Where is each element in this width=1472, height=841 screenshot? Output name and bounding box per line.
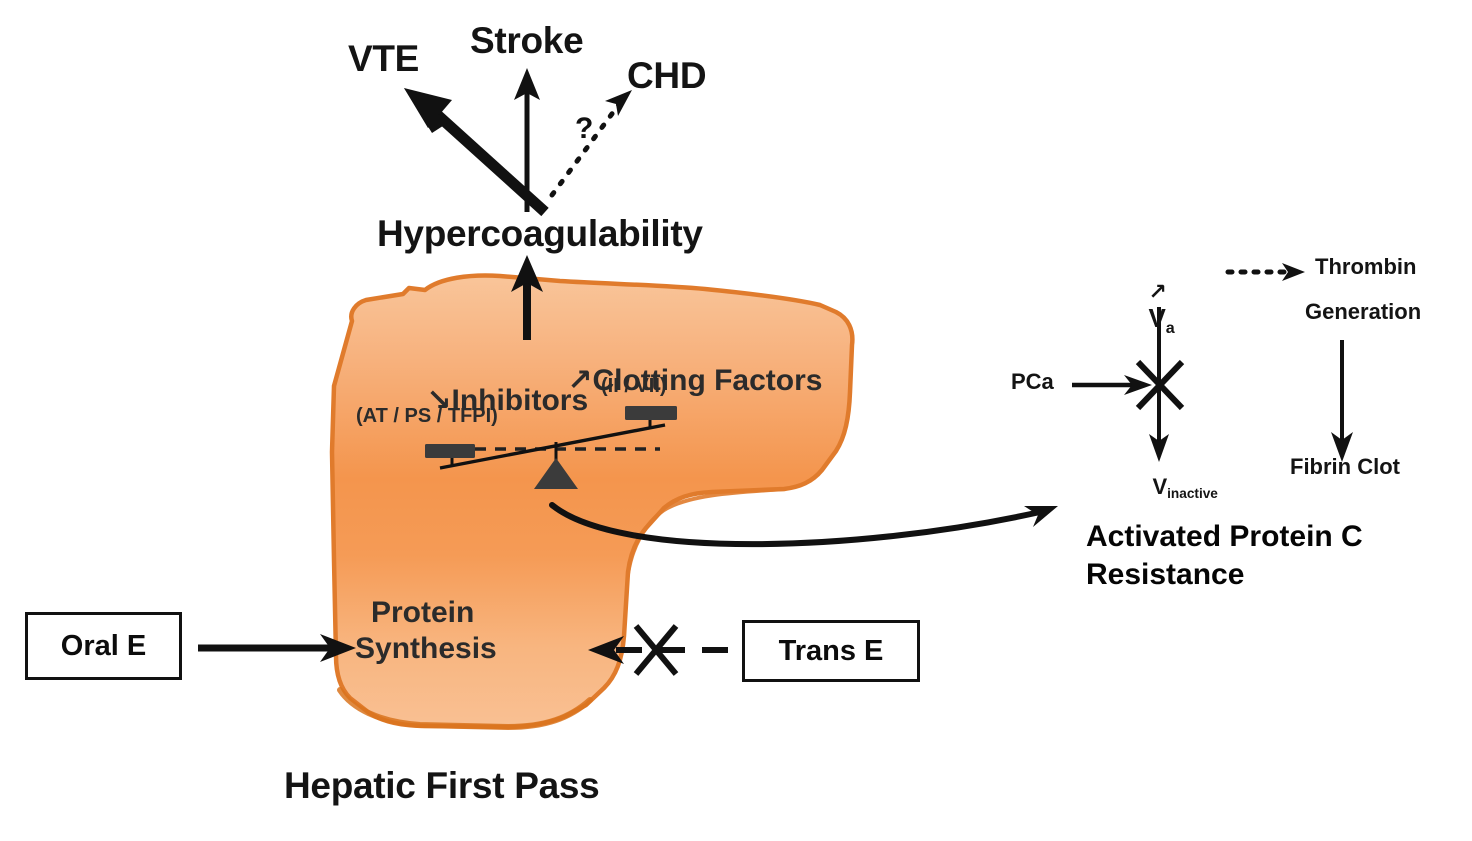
apc-title-line2: Resistance (1086, 558, 1244, 592)
diagram-canvas: VTE Stroke CHD ? Hypercoagulability ↗Clo… (0, 0, 1472, 841)
thrombin-generation-line2: Generation (1305, 300, 1421, 325)
v-inactive-label: V (1152, 474, 1167, 499)
inhibitors-detail: (AT / PS / TFPI) (356, 405, 498, 427)
apc-title-line1: Activated Protein C (1086, 520, 1363, 554)
outcome-label-vte: VTE (348, 38, 419, 79)
trans-e-box[interactable]: Trans E (742, 620, 920, 682)
v-inactive-group: Vinactive (1128, 450, 1218, 524)
va-group: ↗ Va (1124, 255, 1175, 358)
outcome-label-chd: CHD (627, 55, 706, 96)
outcome-label-stroke: Stroke (470, 20, 583, 61)
va-label: V (1148, 303, 1165, 333)
fibrin-clot-label: Fibrin Clot (1290, 455, 1400, 480)
diagram-caption: Hepatic First Pass (284, 765, 599, 806)
va-subscript: a (1166, 319, 1175, 337)
apc-panel-graphics (1072, 263, 1353, 462)
v-inactive-subscript: inactive (1167, 486, 1218, 501)
oral-e-arrow (198, 634, 356, 662)
thrombin-generation-line1: Thrombin (1315, 255, 1416, 280)
protein-synthesis-line2: Synthesis (355, 632, 497, 666)
clotting-factors-detail: (II / VII) (601, 375, 667, 397)
hypercoagulability-label: Hypercoagulability (377, 213, 703, 254)
va-up-arrow-icon: ↗ (1148, 279, 1166, 304)
inhibitors-group: ↘Inhibitors (393, 350, 588, 451)
question-mark-label: ? (575, 112, 593, 146)
oral-e-box[interactable]: Oral E (25, 612, 182, 680)
vte-arrow (404, 88, 545, 212)
protein-synthesis-line1: Protein (371, 596, 474, 630)
pca-label: PCa (1011, 370, 1054, 395)
